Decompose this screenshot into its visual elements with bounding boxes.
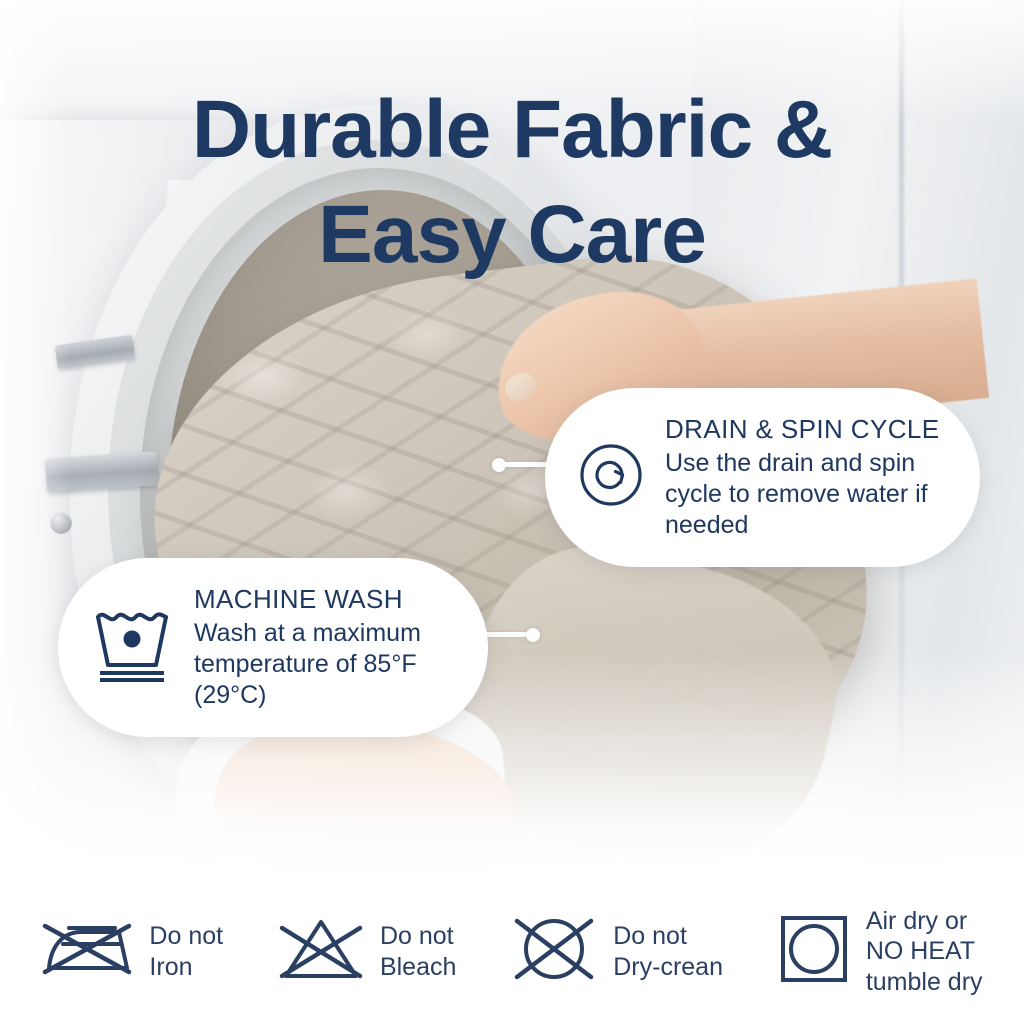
- care-item-do-not-dry-clean[interactable]: Do not Dry-crean: [511, 913, 723, 990]
- do-not-dry-clean-icon: [511, 913, 597, 990]
- page-title: Durable Fabric & Easy Care: [0, 78, 1024, 288]
- care-label: Do not Dry-crean: [613, 921, 723, 982]
- tumble-dry-no-heat-icon: [778, 913, 850, 990]
- callout-title: MACHINE WASH: [194, 584, 448, 615]
- title-line-1: Durable Fabric &: [0, 78, 1024, 183]
- callout-description: Use the drain and spin cycle to remove w…: [665, 448, 940, 541]
- connector-dot: [526, 628, 540, 642]
- care-symbols-row: Do not Iron Do not Bleach Do not Dry: [0, 880, 1024, 1023]
- callout-text-group: DRAIN & SPIN CYCLE Use the drain and spi…: [665, 414, 940, 541]
- callout-machine-wash[interactable]: MACHINE WASH Wash at a maximum temperatu…: [58, 558, 488, 737]
- care-label: Do not Bleach: [380, 921, 456, 982]
- care-label: Air dry or NO HEAT tumble dry: [866, 906, 983, 998]
- do-not-iron-icon: [41, 916, 133, 987]
- callout-title: DRAIN & SPIN CYCLE: [665, 414, 940, 445]
- do-not-bleach-icon: [278, 914, 364, 989]
- callout-drain-spin-cycle[interactable]: DRAIN & SPIN CYCLE Use the drain and spi…: [545, 388, 980, 567]
- washer-hinge-screw: [50, 512, 72, 534]
- callout-text-group: MACHINE WASH Wash at a maximum temperatu…: [194, 584, 448, 711]
- wash-tub-icon: [92, 607, 172, 688]
- callout-description: Wash at a maximum temperature of 85°F (2…: [194, 618, 448, 711]
- care-label: Do not Iron: [149, 921, 223, 982]
- care-item-tumble-dry-no-heat[interactable]: Air dry or NO HEAT tumble dry: [778, 906, 983, 998]
- spin-cycle-icon: [579, 443, 643, 512]
- care-instructions-poster: Durable Fabric & Easy Care DRAIN & SPIN …: [0, 0, 1024, 1023]
- care-item-do-not-iron[interactable]: Do not Iron: [41, 916, 223, 987]
- title-line-2: Easy Care: [0, 183, 1024, 288]
- care-item-do-not-bleach[interactable]: Do not Bleach: [278, 914, 456, 989]
